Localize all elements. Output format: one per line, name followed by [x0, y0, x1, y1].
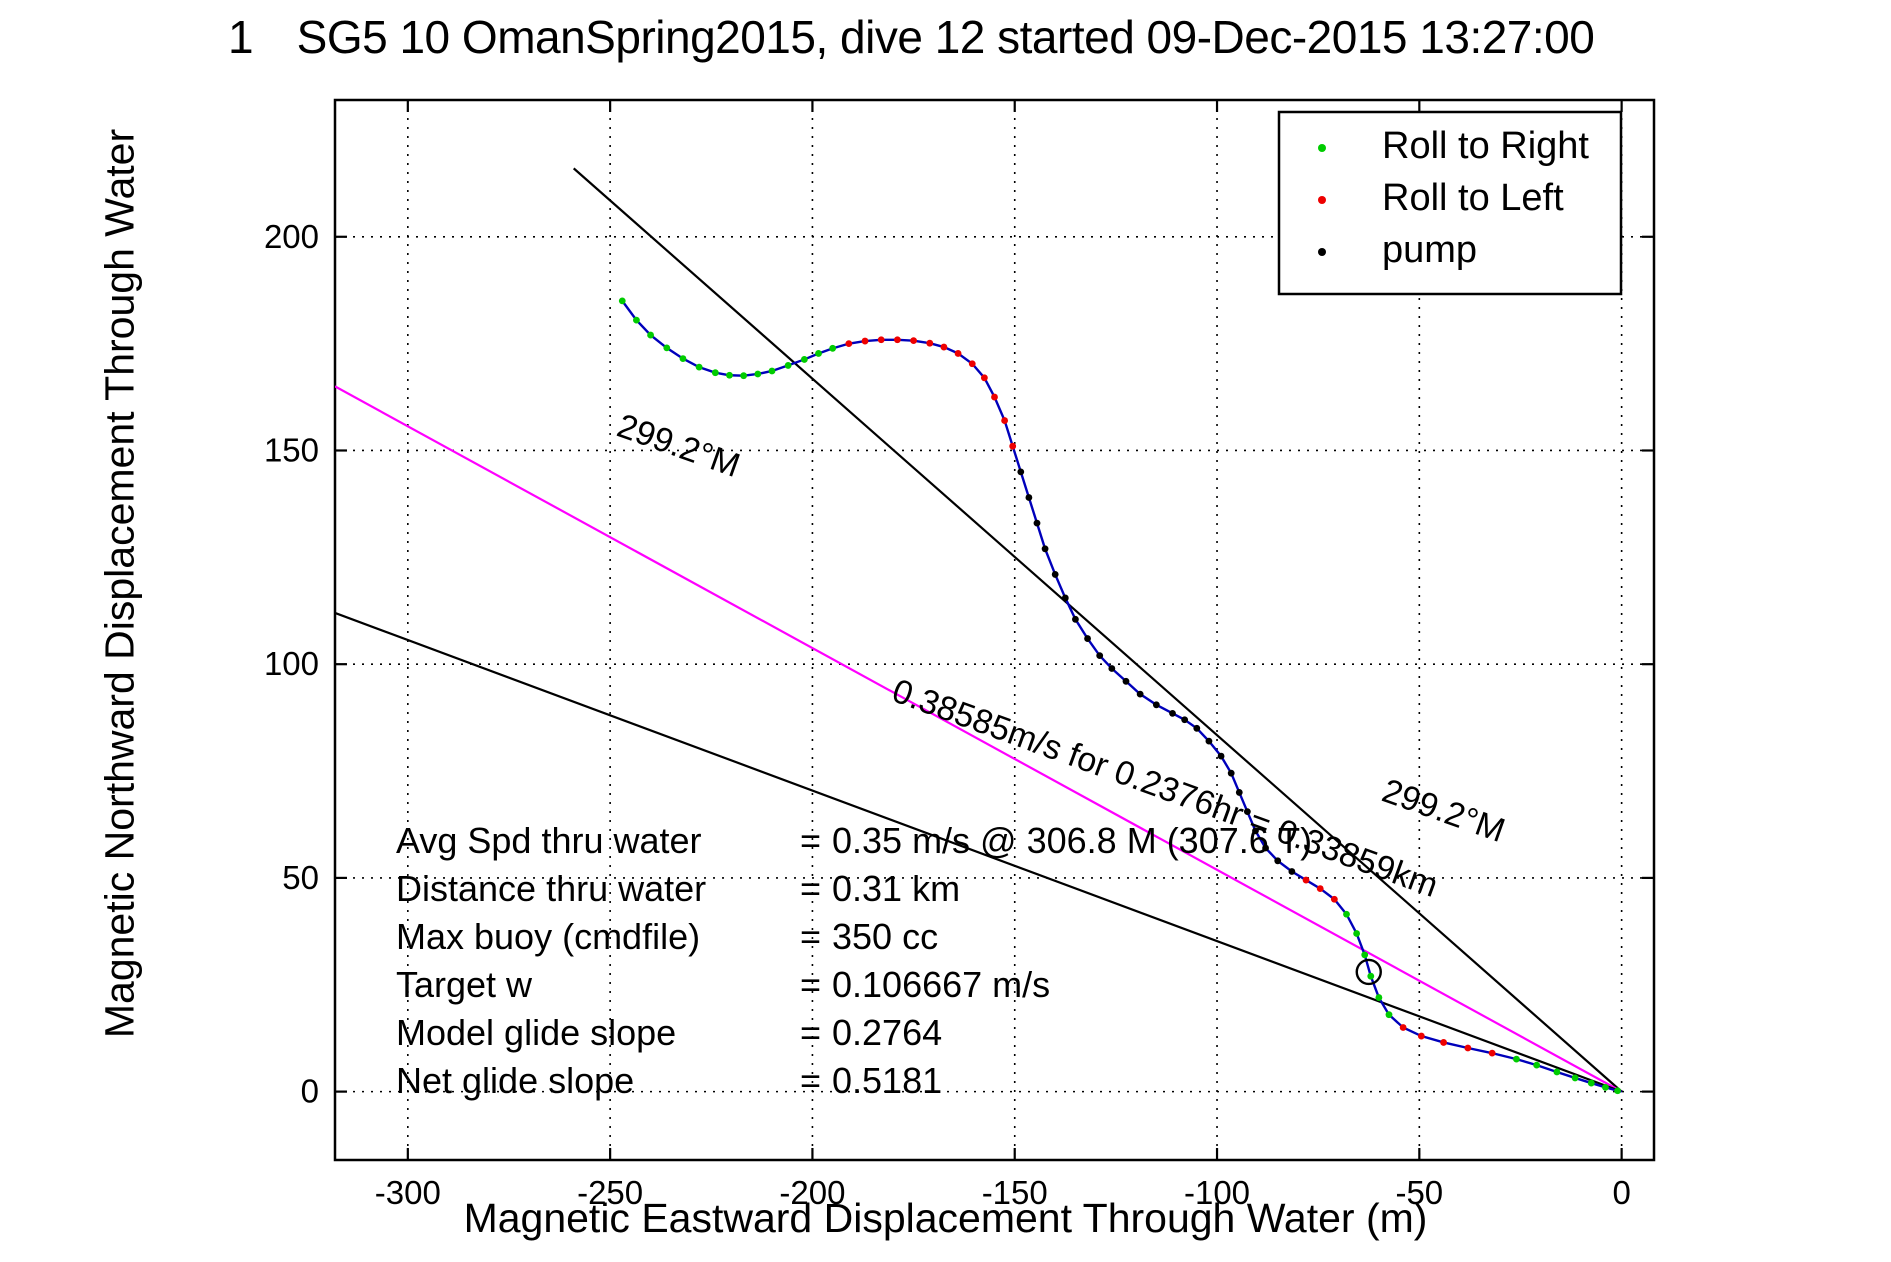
- track-marker: [1317, 885, 1324, 892]
- track-marker: [926, 340, 933, 347]
- track-marker: [941, 344, 948, 351]
- x-tick-label: -200: [779, 1174, 845, 1211]
- track-marker: [1361, 951, 1368, 958]
- stat-equals: =: [800, 916, 821, 957]
- x-tick-label: -300: [375, 1174, 441, 1211]
- stat-equals: =: [800, 820, 821, 861]
- track-marker: [754, 371, 761, 378]
- track-marker: [1553, 1069, 1560, 1076]
- stat-label: Model glide slope: [396, 1012, 676, 1053]
- track-marker: [862, 338, 869, 345]
- track-marker: [680, 355, 687, 362]
- track-marker: [1218, 753, 1225, 760]
- track-marker: [712, 369, 719, 376]
- figure-canvas: SG5 10 OmanSpring2015, dive 12 started 0…: [0, 0, 1891, 1262]
- legend-label-roll-to-right[interactable]: Roll to Right: [1382, 125, 1589, 167]
- y-tick-label: 150: [264, 431, 319, 468]
- legend-label-pump[interactable]: pump: [1382, 229, 1477, 271]
- track-marker: [894, 336, 901, 343]
- track-marker: [1072, 616, 1079, 623]
- track-marker: [1123, 678, 1130, 685]
- track-marker: [1375, 994, 1382, 1001]
- x-tick-label: -250: [577, 1174, 643, 1211]
- track-marker: [1108, 665, 1115, 672]
- title-overlap-glyph: 1: [228, 10, 254, 64]
- track-marker: [1042, 545, 1049, 552]
- track-marker: [1614, 1087, 1621, 1094]
- track-marker: [1400, 1024, 1407, 1031]
- legend[interactable]: Roll to RightRoll to Leftpump: [1279, 112, 1621, 294]
- track-marker: [1206, 738, 1213, 745]
- chart-plot-area: -300-250-200-150-100-500050100150200 299…: [0, 0, 1891, 1262]
- track-marker: [740, 372, 747, 379]
- legend-marker-pump: [1318, 248, 1326, 256]
- track-marker: [633, 317, 640, 324]
- x-tick-label: 0: [1612, 1174, 1630, 1211]
- x-tick-label: -50: [1395, 1174, 1443, 1211]
- track-marker: [1343, 911, 1350, 918]
- track-marker: [1137, 691, 1144, 698]
- track-marker: [1025, 494, 1032, 501]
- track-marker: [619, 297, 626, 304]
- track-marker: [1572, 1075, 1579, 1082]
- stat-value: 0.2764: [832, 1012, 942, 1053]
- track-marker: [1418, 1033, 1425, 1040]
- track-marker: [769, 368, 776, 375]
- track-marker: [1602, 1084, 1609, 1091]
- track-marker: [1489, 1050, 1496, 1057]
- track-marker: [1588, 1080, 1595, 1087]
- track-marker: [801, 356, 808, 363]
- stat-value: 0.35 m/s @ 306.8 M (307.6 T): [832, 820, 1312, 861]
- track-marker: [785, 362, 792, 369]
- track-marker: [663, 345, 670, 352]
- track-marker: [829, 345, 836, 352]
- stat-equals: =: [800, 964, 821, 1005]
- track-marker: [1303, 877, 1310, 884]
- legend-label-roll-to-left[interactable]: Roll to Left: [1382, 177, 1564, 219]
- legend-marker-roll-to-left: [1318, 196, 1326, 204]
- track-marker: [1464, 1045, 1471, 1052]
- y-tick-label: 100: [264, 645, 319, 682]
- y-tick-label: 50: [282, 859, 319, 896]
- x-tick-label: -100: [1184, 1174, 1250, 1211]
- track-marker: [1017, 468, 1024, 475]
- track-marker: [647, 332, 654, 339]
- track-marker: [1009, 443, 1016, 450]
- track-marker: [1288, 868, 1295, 875]
- track-marker: [1153, 701, 1160, 708]
- track-marker: [969, 360, 976, 367]
- track-marker: [991, 394, 998, 401]
- track-marker: [1228, 770, 1235, 777]
- track-marker: [910, 337, 917, 344]
- track-marker: [1440, 1039, 1447, 1046]
- track-marker: [1331, 896, 1338, 903]
- track-marker: [981, 374, 988, 381]
- track-marker: [1181, 716, 1188, 723]
- legend-marker-roll-to-right: [1318, 144, 1326, 152]
- track-marker: [1084, 635, 1091, 642]
- track-marker: [1193, 725, 1200, 732]
- track-marker: [845, 340, 852, 347]
- track-marker: [1096, 652, 1103, 659]
- stat-value: 0.106667 m/s: [832, 964, 1050, 1005]
- stat-label: Distance thru water: [396, 868, 706, 909]
- track-marker: [1533, 1062, 1540, 1069]
- stat-value: 0.31 km: [832, 868, 960, 909]
- y-tick-label: 0: [301, 1073, 319, 1110]
- track-marker: [878, 336, 885, 343]
- track-marker: [1034, 520, 1041, 527]
- stat-equals: =: [800, 1060, 821, 1101]
- stat-value: 350 cc: [832, 916, 938, 957]
- track-marker: [1001, 417, 1008, 424]
- track-marker: [1367, 973, 1374, 980]
- track-marker: [1513, 1056, 1520, 1063]
- stat-equals: =: [800, 868, 821, 909]
- track-marker: [1062, 595, 1069, 602]
- track-marker: [1353, 930, 1360, 937]
- stat-label: Target w: [396, 964, 533, 1005]
- track-marker: [1052, 571, 1059, 578]
- y-tick-label: 200: [264, 218, 319, 255]
- track-marker: [726, 372, 733, 379]
- stat-equals: =: [800, 1012, 821, 1053]
- stat-value: 0.5181: [832, 1060, 942, 1101]
- stat-label: Max buoy (cmdfile): [396, 916, 700, 957]
- track-marker: [955, 350, 962, 357]
- stat-label: Net glide slope: [396, 1060, 634, 1101]
- track-marker: [815, 350, 822, 357]
- track-marker: [1386, 1011, 1393, 1018]
- track-marker: [1169, 710, 1176, 717]
- track-marker: [696, 364, 703, 371]
- stat-label: Avg Spd thru water: [396, 820, 702, 861]
- x-tick-label: -150: [982, 1174, 1048, 1211]
